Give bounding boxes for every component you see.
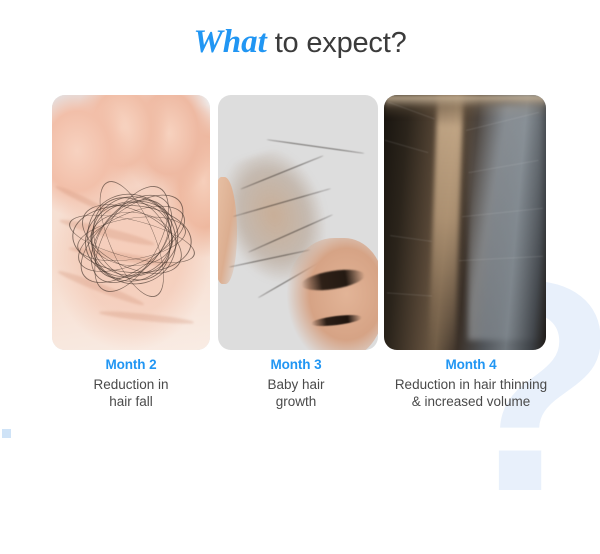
caption-desc-line1: Baby hair: [206, 376, 386, 393]
caption-month-label: Month 2: [33, 356, 229, 373]
caption-month-3: Month 3 Baby hair growth: [206, 356, 386, 410]
page-title-accent: What: [193, 24, 266, 60]
watermark-dot: [2, 429, 11, 438]
caption-desc-line1: Reduction in: [33, 376, 229, 393]
caption-month-2: Month 2 Reduction in hair fall: [33, 356, 229, 410]
result-card-month-3[interactable]: [218, 95, 378, 350]
timeline-cards: [52, 95, 546, 350]
page-title: What to expect?: [0, 24, 600, 61]
result-card-month-2[interactable]: [52, 95, 210, 350]
hairline-baby-hair-photo: [218, 95, 378, 350]
caption-desc-line2: hair fall: [33, 393, 229, 410]
caption-month-label: Month 4: [372, 356, 570, 373]
result-card-month-4[interactable]: [384, 95, 546, 350]
scalp-parting-volume-photo: [384, 95, 546, 350]
caption-desc-line1: Reduction in hair thinning: [372, 376, 570, 393]
card-captions: Month 2 Reduction in hair fall Month 3 B…: [0, 356, 600, 426]
page-title-rest: to expect?: [267, 27, 407, 59]
caption-desc-line2: & increased volume: [372, 393, 570, 410]
fallen-hair-strands: [61, 161, 200, 309]
caption-desc-line2: growth: [206, 393, 386, 410]
caption-month-label: Month 3: [206, 356, 386, 373]
caption-month-4: Month 4 Reduction in hair thinning & inc…: [372, 356, 570, 410]
palm-with-fallen-hair-photo: [52, 95, 210, 350]
